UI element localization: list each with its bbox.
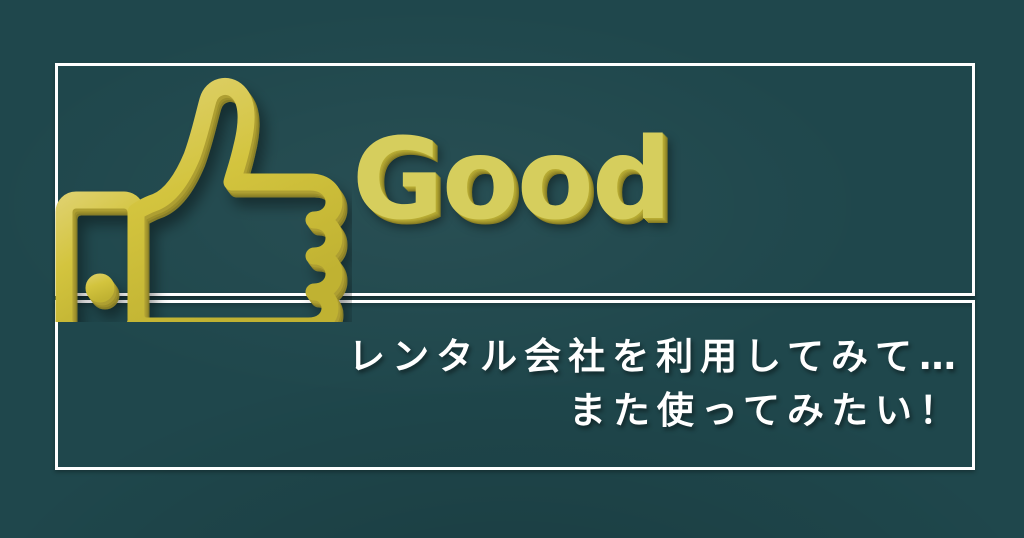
caption-line-2: また使ってみたい！ <box>55 384 963 438</box>
caption-block: レンタル会社を利用してみて… また使ってみたい！ <box>55 330 963 438</box>
poster-canvas: Good レンタル会社を利用してみて… また使ってみたい！ <box>0 0 1024 538</box>
good-headline: Good <box>352 124 670 236</box>
caption-line-1: レンタル会社を利用してみて… <box>55 330 963 384</box>
thumbs-up-icon <box>52 52 352 322</box>
